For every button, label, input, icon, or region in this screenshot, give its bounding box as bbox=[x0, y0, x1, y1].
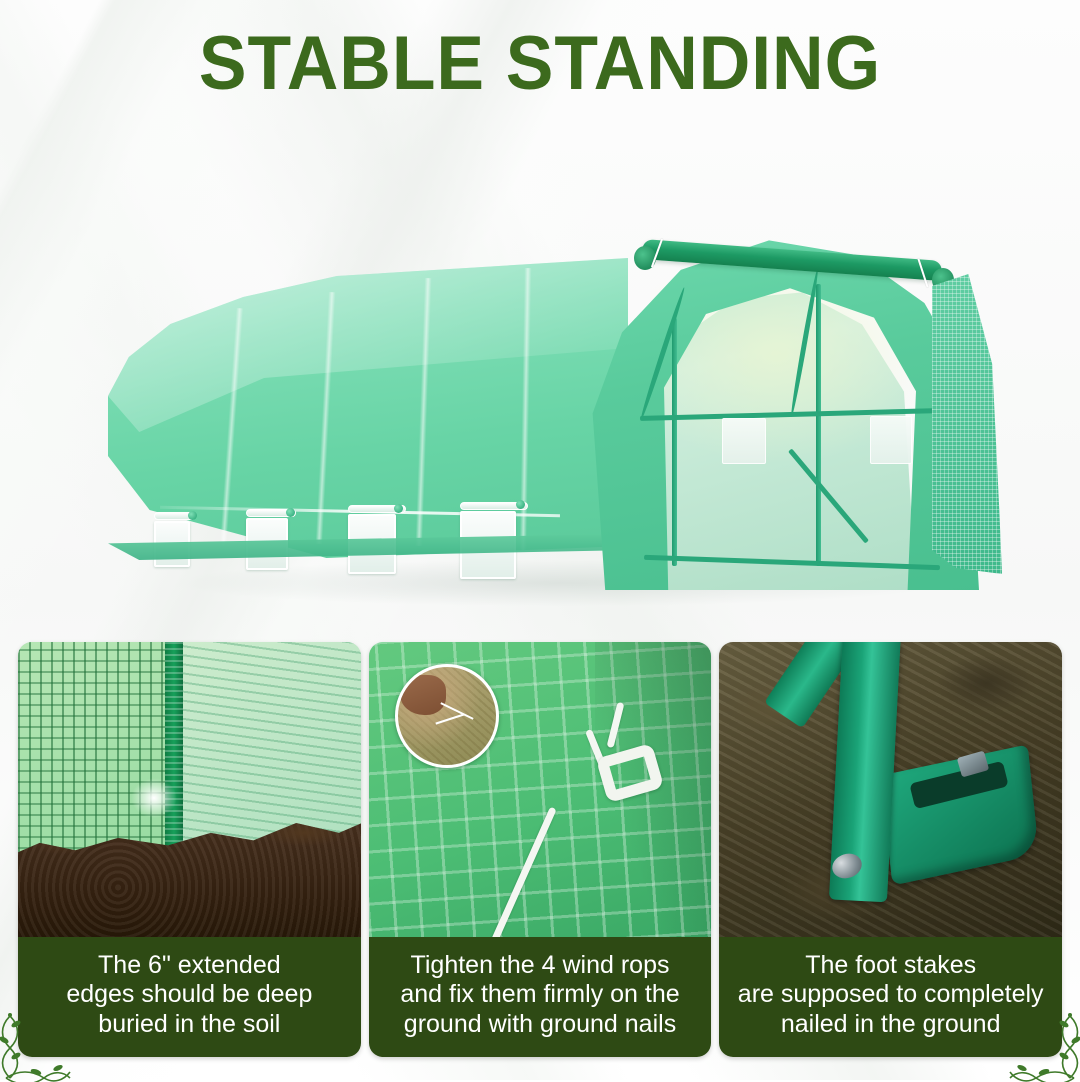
photo-foot-stake-in-ground bbox=[719, 642, 1062, 937]
ground-nail bbox=[435, 713, 464, 724]
window-tie-knob bbox=[188, 511, 197, 520]
hand bbox=[400, 675, 446, 715]
hero-product-image bbox=[60, 130, 1040, 630]
feature-panel: Tighten the 4 wind rops and fix them fir… bbox=[369, 642, 712, 1057]
photo-cover-edge-buried-in-soil bbox=[18, 642, 361, 937]
far-window-flap bbox=[722, 418, 766, 464]
page-title: STABLE STANDING bbox=[32, 24, 1047, 104]
feature-panel: The 6" extended edges should be deep bur… bbox=[18, 642, 361, 1057]
greenhouse-front-arch bbox=[580, 222, 1000, 590]
feature-panel-row: The 6" extended edges should be deep bur… bbox=[18, 642, 1062, 1057]
caption-line: nailed in the ground bbox=[781, 1010, 1001, 1038]
caption-line: The 6" extended bbox=[98, 951, 281, 979]
window-tie-knob bbox=[286, 508, 295, 517]
caption-line: ground with ground nails bbox=[404, 1010, 676, 1038]
wind-rope bbox=[489, 807, 556, 937]
feature-panel: The foot stakes are supposed to complete… bbox=[719, 642, 1062, 1057]
caption-line: edges should be deep bbox=[66, 980, 312, 1008]
window-tie-knob bbox=[394, 504, 403, 513]
frame-tube-vertical bbox=[816, 284, 821, 566]
caption-line: are supposed to completely bbox=[738, 980, 1044, 1008]
far-window-flap bbox=[870, 416, 912, 464]
rolled-side-curtain bbox=[932, 274, 1002, 574]
caption-line: Tighten the 4 wind rops bbox=[411, 951, 670, 979]
caption-line: buried in the soil bbox=[98, 1010, 280, 1038]
vine-flourish-icon bbox=[1006, 1008, 1080, 1082]
caption-line: and fix them firmly on the bbox=[400, 980, 679, 1008]
vine-flourish-icon bbox=[0, 1008, 74, 1082]
window-tie-knob bbox=[516, 500, 525, 509]
caption-line: The foot stakes bbox=[805, 951, 976, 979]
window-flap bbox=[246, 509, 296, 570]
frame-tube-vertical bbox=[672, 318, 677, 566]
photo-wind-rope-with-tensioner bbox=[369, 642, 712, 937]
inset-photo-ground-nail bbox=[395, 664, 499, 768]
light-highlight bbox=[131, 778, 177, 818]
panel-caption: Tighten the 4 wind rops and fix them fir… bbox=[369, 937, 712, 1057]
corner-post bbox=[165, 642, 183, 854]
